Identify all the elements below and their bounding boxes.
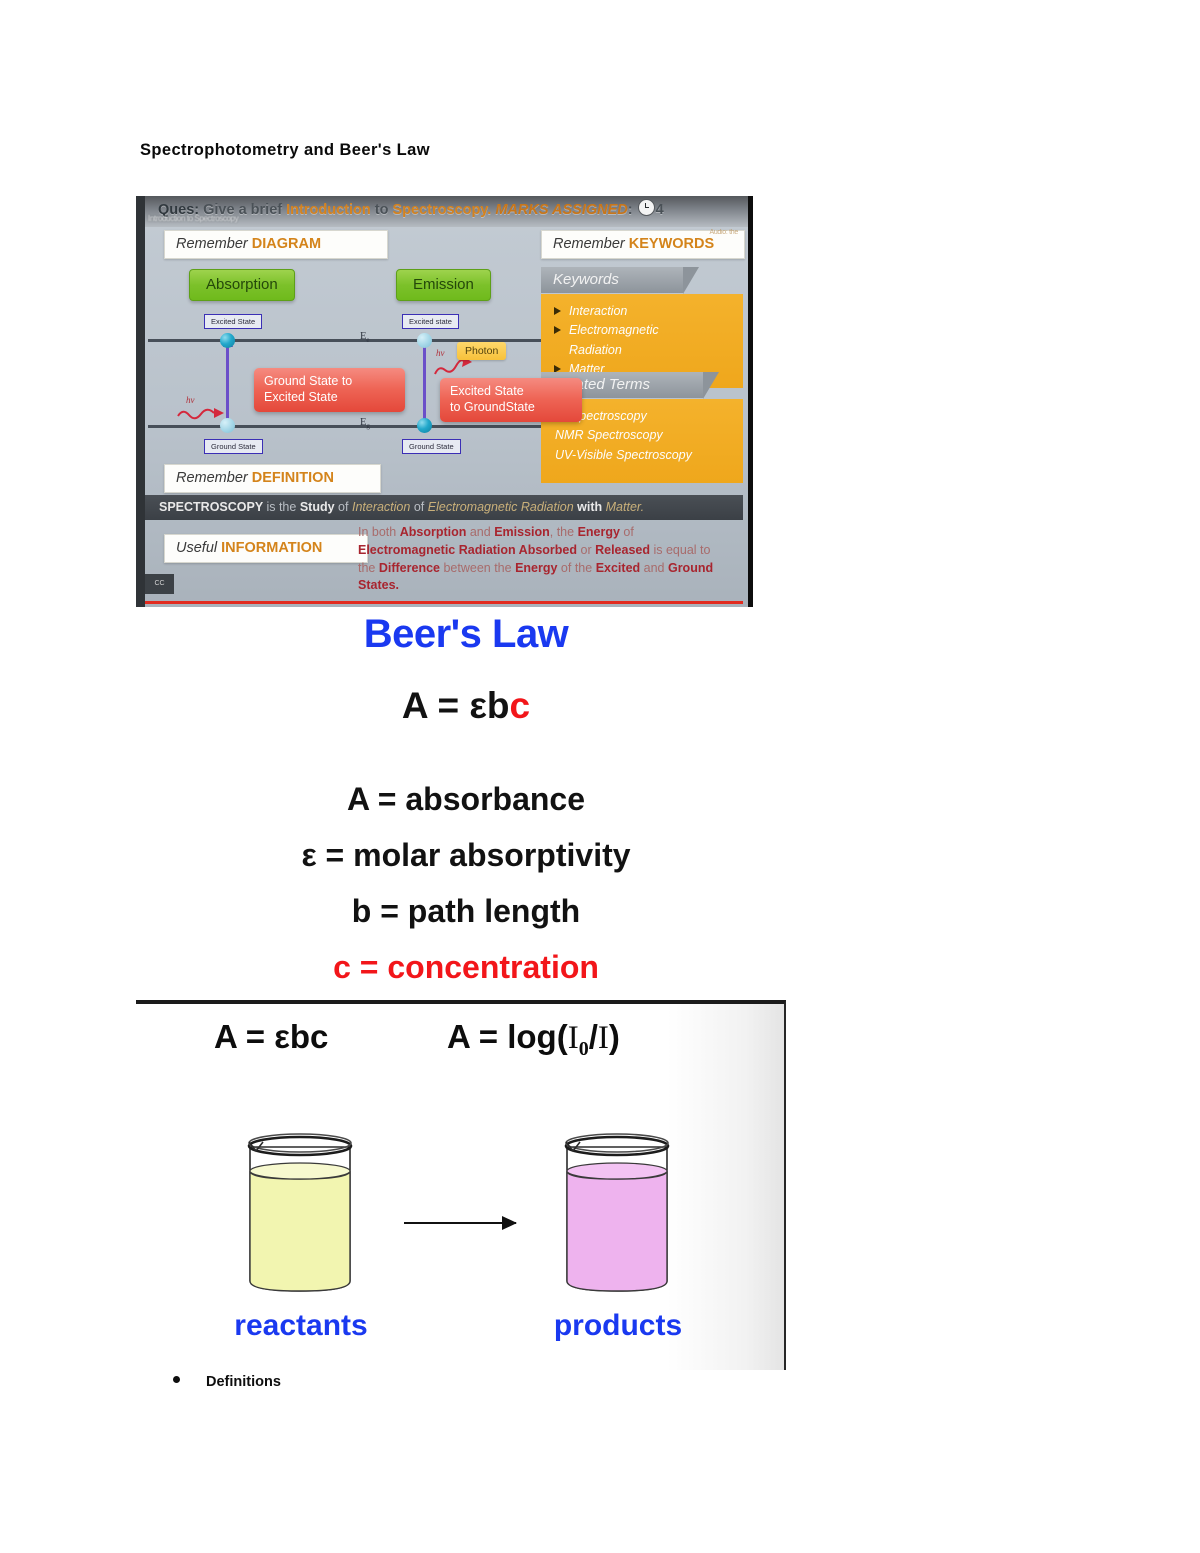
def-word-matter: Matter. (606, 500, 644, 514)
e-subscript: e (366, 336, 369, 344)
useful-information-keyword: INFORMATION (221, 540, 322, 556)
video-left-edge-bar (136, 196, 145, 607)
emission-photon-energy-label: hv (436, 348, 445, 358)
useful-information-paragraph: In both Absorption and Emission, the Ene… (358, 524, 728, 595)
list-item: Definitions (173, 1374, 281, 1390)
keyword-item-radiation: Radiation (551, 341, 733, 360)
absorption-photon-wave-icon (176, 404, 232, 422)
info-t9: and (640, 561, 668, 575)
beers-law-definitions: A = absorbance ε = molar absorptivity b … (136, 771, 796, 995)
question-highlight-spectroscopy: Spectroscopy. (392, 202, 491, 218)
def-word-with: with (577, 500, 602, 514)
reaction-diagram-image: A = εbc A = log(I0/I) reactants products (136, 1000, 786, 1370)
question-highlight-introduction: Introduction (286, 202, 371, 218)
log-eq-i0: I (568, 1020, 579, 1056)
beers-law-equation-c: c (510, 685, 531, 726)
emission-excited-level-line (342, 339, 542, 342)
clock-icon (638, 199, 655, 216)
info-t8: of the (557, 561, 595, 575)
emission-transition-arrow (423, 346, 426, 424)
reactants-beaker-icon (236, 1129, 364, 1297)
page-title: Spectrophotometry and Beer's Law (140, 141, 430, 160)
absorption-excited-energy-label: Ee (360, 331, 370, 344)
notes-bullet-list: Definitions (173, 1374, 281, 1390)
def-word-is-the: is the (266, 500, 296, 514)
info-b2: Emission (494, 525, 550, 539)
log-eq-subscript: 0 (579, 1038, 589, 1060)
info-t7: between the (440, 561, 515, 575)
emission-ground-electron-orb (417, 418, 432, 433)
absorption-callout: Ground State to Excited State (254, 368, 405, 412)
emission-callout: Excited State to GroundState (440, 378, 582, 422)
emission-excited-state-tag: Excited state (402, 314, 459, 329)
absorption-photon-energy-label: hv (186, 395, 195, 405)
video-watermark-left: Introduction to Spectroscopy (148, 214, 238, 223)
info-b3: Energy (578, 525, 620, 539)
def-word-interaction: Interaction (352, 500, 410, 514)
video-progress-bar[interactable] (145, 601, 743, 604)
emission-ground-level-line (342, 425, 542, 428)
remember-diagram-keyword: DIAGRAM (252, 236, 321, 252)
def-word-em-radiation: Electromagnetic Radiation (428, 500, 574, 514)
info-t5: or (577, 543, 595, 557)
absorption-callout-line1: Ground State to (264, 374, 395, 390)
beers-def-path-length: b = path length (136, 883, 796, 939)
photon-tag: Photon (457, 342, 506, 360)
beers-def-absorbance: A = absorbance (136, 771, 796, 827)
def-word-of-2: of (414, 500, 424, 514)
reactants-label: reactants (171, 1309, 431, 1343)
emission-button: Emission (396, 269, 491, 301)
info-t4: of (620, 525, 634, 539)
beers-def-molar-absorptivity: ε = molar absorptivity (136, 827, 796, 883)
beers-law-section: Beer's Law A = εbc A = absorbance ε = mo… (136, 612, 796, 995)
info-b6: Difference (379, 561, 440, 575)
absorption-ground-state-tag: Ground State (204, 439, 263, 454)
info-t3: , the (550, 525, 578, 539)
info-t1: In both (358, 525, 400, 539)
related-term-nmr: NMR Spectroscopy (551, 426, 733, 445)
info-t2: and (466, 525, 494, 539)
emission-callout-line1: Excited State (450, 384, 572, 400)
beers-law-equation: A = εbc (136, 686, 796, 727)
remember-definition-box: Remember DEFINITION (164, 464, 381, 493)
info-b7: Energy (515, 561, 557, 575)
reaction-equation-right: A = log(I0/I) (447, 1018, 620, 1061)
beers-law-title: Beer's Law (136, 612, 796, 656)
def-word-spectroscopy: SPECTROSCOPY (159, 500, 263, 514)
question-part2: to (375, 202, 389, 218)
marks-value: 4 (656, 202, 664, 218)
closed-caption-badge[interactable]: CC (145, 574, 174, 594)
video-watermark-right: Audio: the (709, 229, 738, 236)
reaction-arrow-icon (404, 1222, 516, 1224)
remember-diagram-box: Remember DIAGRAM (164, 230, 388, 259)
log-eq-prefix: A = log( (447, 1018, 568, 1055)
remember-definition-keyword: DEFINITION (252, 470, 334, 486)
info-b5: Released (595, 543, 650, 557)
log-eq-suffix: ) (609, 1018, 620, 1055)
remember-definition-prefix: Remember (176, 470, 252, 486)
marks-assigned-label: MARKS ASSIGNED (495, 202, 627, 218)
keywords-header: Keywords (541, 267, 683, 293)
emission-excited-electron-orb (417, 333, 432, 348)
absorption-button: Absorption (189, 269, 295, 301)
absorption-excited-electron-orb (220, 333, 235, 348)
remember-diagram-prefix: Remember (176, 236, 252, 252)
log-eq-slash: / (589, 1018, 598, 1055)
related-term-uv-visible: UV-Visible Spectroscopy (551, 446, 733, 465)
products-beaker-icon (553, 1129, 681, 1297)
spectroscopy-video-screenshot: Ques: Give a brief Introduction to Spect… (136, 196, 753, 607)
useful-information-prefix: Useful (176, 540, 221, 556)
marks-colon: : (628, 202, 633, 218)
bullet-label-definitions: Definitions (206, 1374, 281, 1390)
info-b8: Excited (596, 561, 640, 575)
useful-information-box: Useful INFORMATION (164, 534, 368, 563)
def-word-of-1: of (338, 500, 348, 514)
beers-def-concentration: c = concentration (136, 939, 796, 995)
remember-keywords-keyword: KEYWORDS (629, 236, 714, 252)
log-eq-i: I (598, 1020, 609, 1056)
absorption-ground-energy-label: Eg (360, 417, 370, 430)
reaction-equation-left: A = εbc (214, 1018, 328, 1056)
spectroscopy-definition-strip: SPECTROSCOPY is the Study of Interaction… (145, 495, 743, 520)
beers-law-equation-lhs: A = εb (402, 685, 510, 726)
info-b4: Electromagnetic Radiation Absorbed (358, 543, 577, 557)
emission-callout-line2: to GroundState (450, 400, 572, 416)
absorption-ground-level-line (148, 425, 353, 428)
keyword-item-interaction: Interaction (551, 302, 733, 321)
products-label: products (488, 1309, 748, 1343)
remember-keywords-prefix: Remember (553, 236, 629, 252)
emission-ground-state-tag: Ground State (402, 439, 461, 454)
bullet-dot-icon (173, 1376, 180, 1383)
absorption-excited-level-line (148, 339, 353, 342)
absorption-excited-state-tag: Excited State (204, 314, 262, 329)
keyword-item-electromagnetic: Electromagnetic (551, 321, 733, 340)
absorption-callout-line2: Excited State (264, 390, 395, 406)
e-subscript: g (366, 422, 370, 430)
info-b1: Absorption (400, 525, 467, 539)
def-word-study: Study (300, 500, 335, 514)
